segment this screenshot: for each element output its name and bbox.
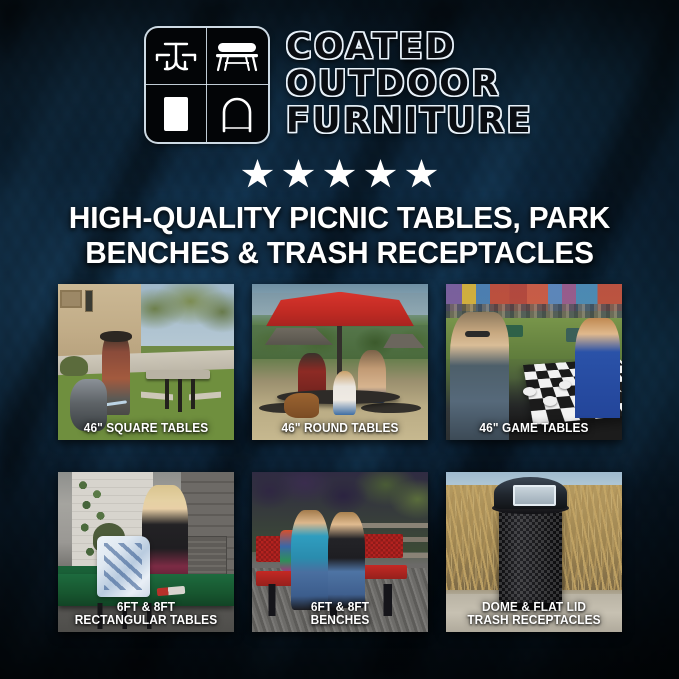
product-photo: [446, 284, 622, 440]
caption-line-1: DOME & FLAT LID: [482, 600, 586, 614]
product-photo: [252, 284, 428, 440]
photo-eyeglasses: [465, 331, 490, 337]
photo-child: [333, 371, 356, 415]
photo-table-bench: [361, 403, 421, 414]
logo-icon-grid: [146, 28, 268, 142]
caption-line-2: TRASH RECEPTACLES: [452, 614, 615, 628]
photo-boy: [291, 510, 330, 609]
bike-rack-icon: [207, 85, 268, 142]
picnic-table-icon: [146, 28, 207, 85]
photo-table-leg: [165, 379, 169, 410]
photo-boy: [328, 512, 365, 608]
photo-hat: [100, 331, 132, 342]
product-grid: 46" SQUARE TABLES: [58, 284, 622, 632]
photo-picnic-table: [141, 370, 222, 414]
caption-line-1: 46" ROUND TABLES: [281, 421, 398, 435]
photo-garage-door: [60, 290, 82, 309]
photo-dome-opening: [513, 485, 556, 507]
photo-trees: [135, 284, 234, 346]
brand-word-coated: COATED: [286, 29, 457, 65]
photo-boy: [575, 318, 621, 418]
brand-logo: COATED OUTDOOR FURNITURE: [0, 28, 679, 142]
star-icon: [365, 159, 397, 190]
caption-line-2: RECTANGULAR TABLES: [64, 614, 227, 628]
product-tile-round-tables[interactable]: 46" ROUND TABLES: [252, 284, 428, 440]
product-tile-benches[interactable]: 6FT & 8FT BENCHES: [252, 472, 428, 632]
product-tile-square-tables[interactable]: 46" SQUARE TABLES: [58, 284, 234, 440]
product-tile-game-tables[interactable]: 46" GAME TABLES: [446, 284, 622, 440]
photo-tote-bag: [97, 536, 150, 597]
photo-shrub: [60, 356, 88, 376]
brand-wordmark: COATED OUTDOOR FURNITURE: [286, 29, 533, 141]
photo-dog: [284, 393, 319, 418]
product-caption: 6FT & 8FT RECTANGULAR TABLES: [64, 601, 227, 629]
product-photo: [58, 284, 234, 440]
photo-window: [85, 290, 92, 311]
advertisement-banner: COATED OUTDOOR FURNITURE HIGH-QUALITY PI…: [0, 0, 679, 679]
caption-line-1: 6FT & 8FT: [117, 600, 175, 614]
product-tile-rectangular-tables[interactable]: 6FT & 8FT RECTANGULAR TABLES: [58, 472, 234, 632]
caption-line-1: 46" SQUARE TABLES: [84, 421, 208, 435]
product-caption: 46" SQUARE TABLES: [64, 422, 227, 436]
product-caption: 46" GAME TABLES: [452, 422, 615, 436]
bench-icon: [207, 28, 268, 85]
headline: HIGH-QUALITY PICNIC TABLES, PARK BENCHES…: [37, 200, 643, 271]
headline-line-2: BENCHES & TRASH RECEPTACLES: [37, 235, 643, 270]
star-icon: [242, 159, 274, 190]
star-rating: [0, 159, 679, 190]
caption-line-1: 46" GAME TABLES: [479, 421, 588, 435]
star-icon: [406, 159, 438, 190]
product-tile-trash-receptacles[interactable]: DOME & FLAT LID TRASH RECEPTACLES: [446, 472, 622, 632]
star-icon: [324, 159, 356, 190]
photo-game-piece: [559, 381, 571, 389]
photo-bench-seat: [358, 565, 407, 579]
brand-word-outdoor: OUTDOOR: [286, 66, 501, 102]
photo-table-leg: [178, 379, 182, 412]
product-caption: 46" ROUND TABLES: [258, 422, 421, 436]
star-icon: [283, 159, 315, 190]
photo-receptacle-body: [499, 507, 562, 606]
trash-receptacle-icon: [146, 85, 207, 142]
product-caption: DOME & FLAT LID TRASH RECEPTACLES: [452, 601, 615, 629]
product-caption: 6FT & 8FT BENCHES: [258, 601, 421, 629]
headline-line-1: HIGH-QUALITY PICNIC TABLES, PARK: [69, 200, 610, 235]
caption-line-1: 6FT & 8FT: [311, 600, 369, 614]
caption-line-2: BENCHES: [258, 614, 421, 628]
photo-table-leg: [191, 379, 195, 410]
brand-word-furniture: FURNITURE: [286, 103, 533, 139]
